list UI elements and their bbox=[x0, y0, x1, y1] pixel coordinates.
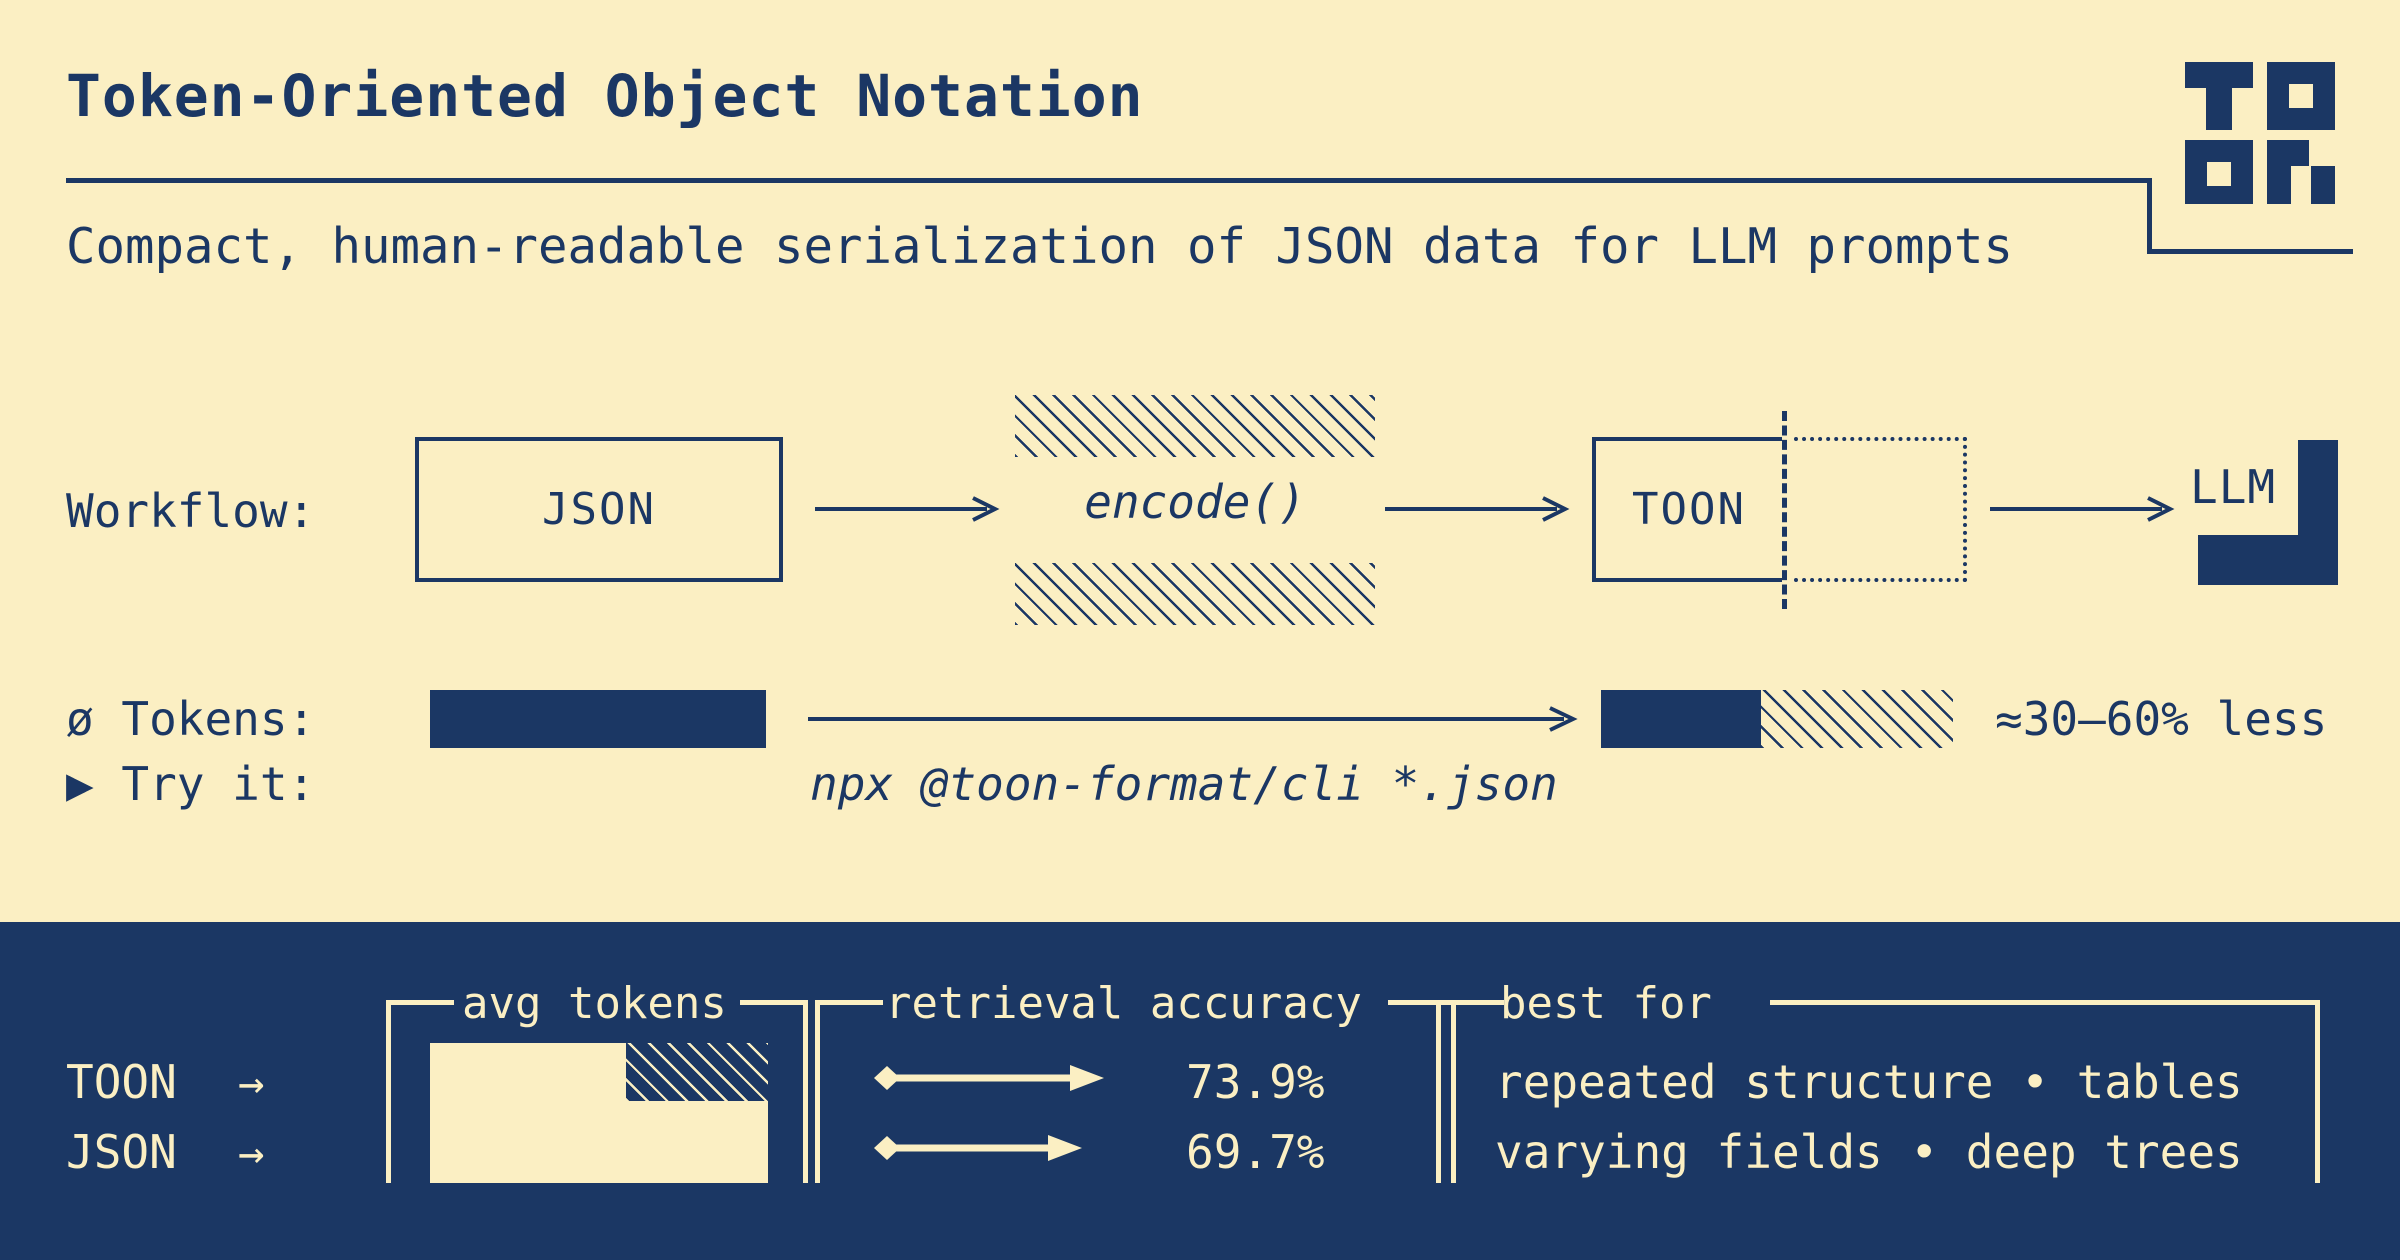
hatch-band-bottom bbox=[1015, 563, 1375, 625]
workflow-step-toon-dotted bbox=[1794, 437, 1967, 582]
bracket-rail-col2-right bbox=[1451, 1000, 1456, 1183]
arrow-right-icon-3 bbox=[1990, 495, 2175, 523]
panel-row-label-json: JSON bbox=[66, 1125, 177, 1179]
accuracy-arrow-json bbox=[874, 1132, 1084, 1164]
tokens-bar-toon bbox=[1601, 690, 1953, 748]
bracket-tick-col3-left bbox=[1436, 1000, 1504, 1005]
workflow-step-json-label: JSON bbox=[542, 484, 656, 535]
accuracy-arrow-toon bbox=[874, 1062, 1106, 1094]
best-for-line-2: varying fields • deep trees bbox=[1495, 1125, 2243, 1179]
bracket-tick-col2-left bbox=[815, 1000, 883, 1005]
avg-tokens-bar-json bbox=[430, 1101, 768, 1183]
avg-tokens-bar-toon-solid bbox=[430, 1043, 626, 1101]
bracket-rail-col1-right bbox=[803, 1000, 808, 1183]
try-it-label: ▶ Try it: bbox=[66, 757, 315, 811]
best-for-line-1: repeated structure • tables bbox=[1495, 1055, 2243, 1109]
workflow-step-encode: encode() bbox=[1015, 395, 1375, 625]
column-title-retrieval-accuracy: retrieval accuracy bbox=[885, 978, 1362, 1029]
workflow-step-toon-label: TOON bbox=[1632, 484, 1746, 535]
workflow-step-encode-label: encode() bbox=[1015, 475, 1375, 529]
column-title-best-for: best for bbox=[1500, 978, 1712, 1029]
hatch-band-top bbox=[1015, 395, 1375, 457]
bracket-tick-col3-right bbox=[1770, 1000, 2320, 1005]
workflow-step-llm: LLM bbox=[2190, 440, 2338, 585]
panel-row-label-toon: TOON bbox=[66, 1055, 177, 1109]
infographic-canvas: Token-Oriented Object Notation Compact, … bbox=[0, 0, 2400, 1260]
toon-logo-icon bbox=[2185, 62, 2347, 204]
accuracy-value-toon: 73.9% bbox=[1186, 1055, 1324, 1109]
bracket-rail-col3-left bbox=[1436, 1000, 1441, 1183]
arrow-right-icon-1 bbox=[815, 495, 1000, 523]
tokens-bar-toon-hatch bbox=[1761, 690, 1953, 748]
arrow-right-icon-row-toon: → bbox=[238, 1058, 265, 1109]
accuracy-value-json: 69.7% bbox=[1186, 1125, 1324, 1179]
page-subtitle: Compact, human-readable serialization of… bbox=[66, 218, 2013, 275]
bracket-tick-col1-right bbox=[740, 1000, 808, 1005]
workflow-step-llm-label: LLM bbox=[2190, 460, 2276, 514]
workflow-step-toon-divider bbox=[1782, 411, 1787, 609]
bracket-tick-col1-left bbox=[386, 1000, 454, 1005]
tokens-bar-toon-solid bbox=[1601, 690, 1761, 748]
page-title: Token-Oriented Object Notation bbox=[66, 62, 1144, 130]
workflow-label: Workflow: bbox=[66, 484, 315, 538]
header-divider-horizontal bbox=[66, 178, 2152, 183]
avg-tokens-bar-toon bbox=[430, 1043, 768, 1101]
avg-tokens-bar-toon-hatch bbox=[626, 1043, 768, 1101]
arrow-right-icon-row-json: → bbox=[238, 1128, 265, 1179]
bracket-rail-col1-left bbox=[386, 1000, 391, 1183]
llm-block-horizontal bbox=[2198, 535, 2338, 585]
arrow-right-icon-2 bbox=[1385, 495, 1570, 523]
workflow-step-toon-solid: TOON bbox=[1592, 437, 1782, 582]
tokens-bar-json bbox=[430, 690, 766, 748]
tokens-savings-text: ≈30–60% less bbox=[1995, 692, 2327, 746]
header-divider-horizontal-lower bbox=[2147, 249, 2353, 254]
bracket-rail-col2-left bbox=[815, 1000, 820, 1183]
arrow-right-icon-tokens bbox=[808, 705, 1578, 733]
workflow-step-toon: TOON bbox=[1592, 437, 1967, 582]
tokens-label: ø Tokens: bbox=[66, 692, 315, 746]
bracket-rail-col3-right bbox=[2315, 1000, 2320, 1183]
header-divider-vertical bbox=[2147, 178, 2152, 254]
workflow-step-json: JSON bbox=[415, 437, 783, 582]
column-title-avg-tokens: avg tokens bbox=[462, 978, 727, 1029]
install-command[interactable]: npx @toon-format/cli *.json bbox=[810, 757, 1558, 811]
